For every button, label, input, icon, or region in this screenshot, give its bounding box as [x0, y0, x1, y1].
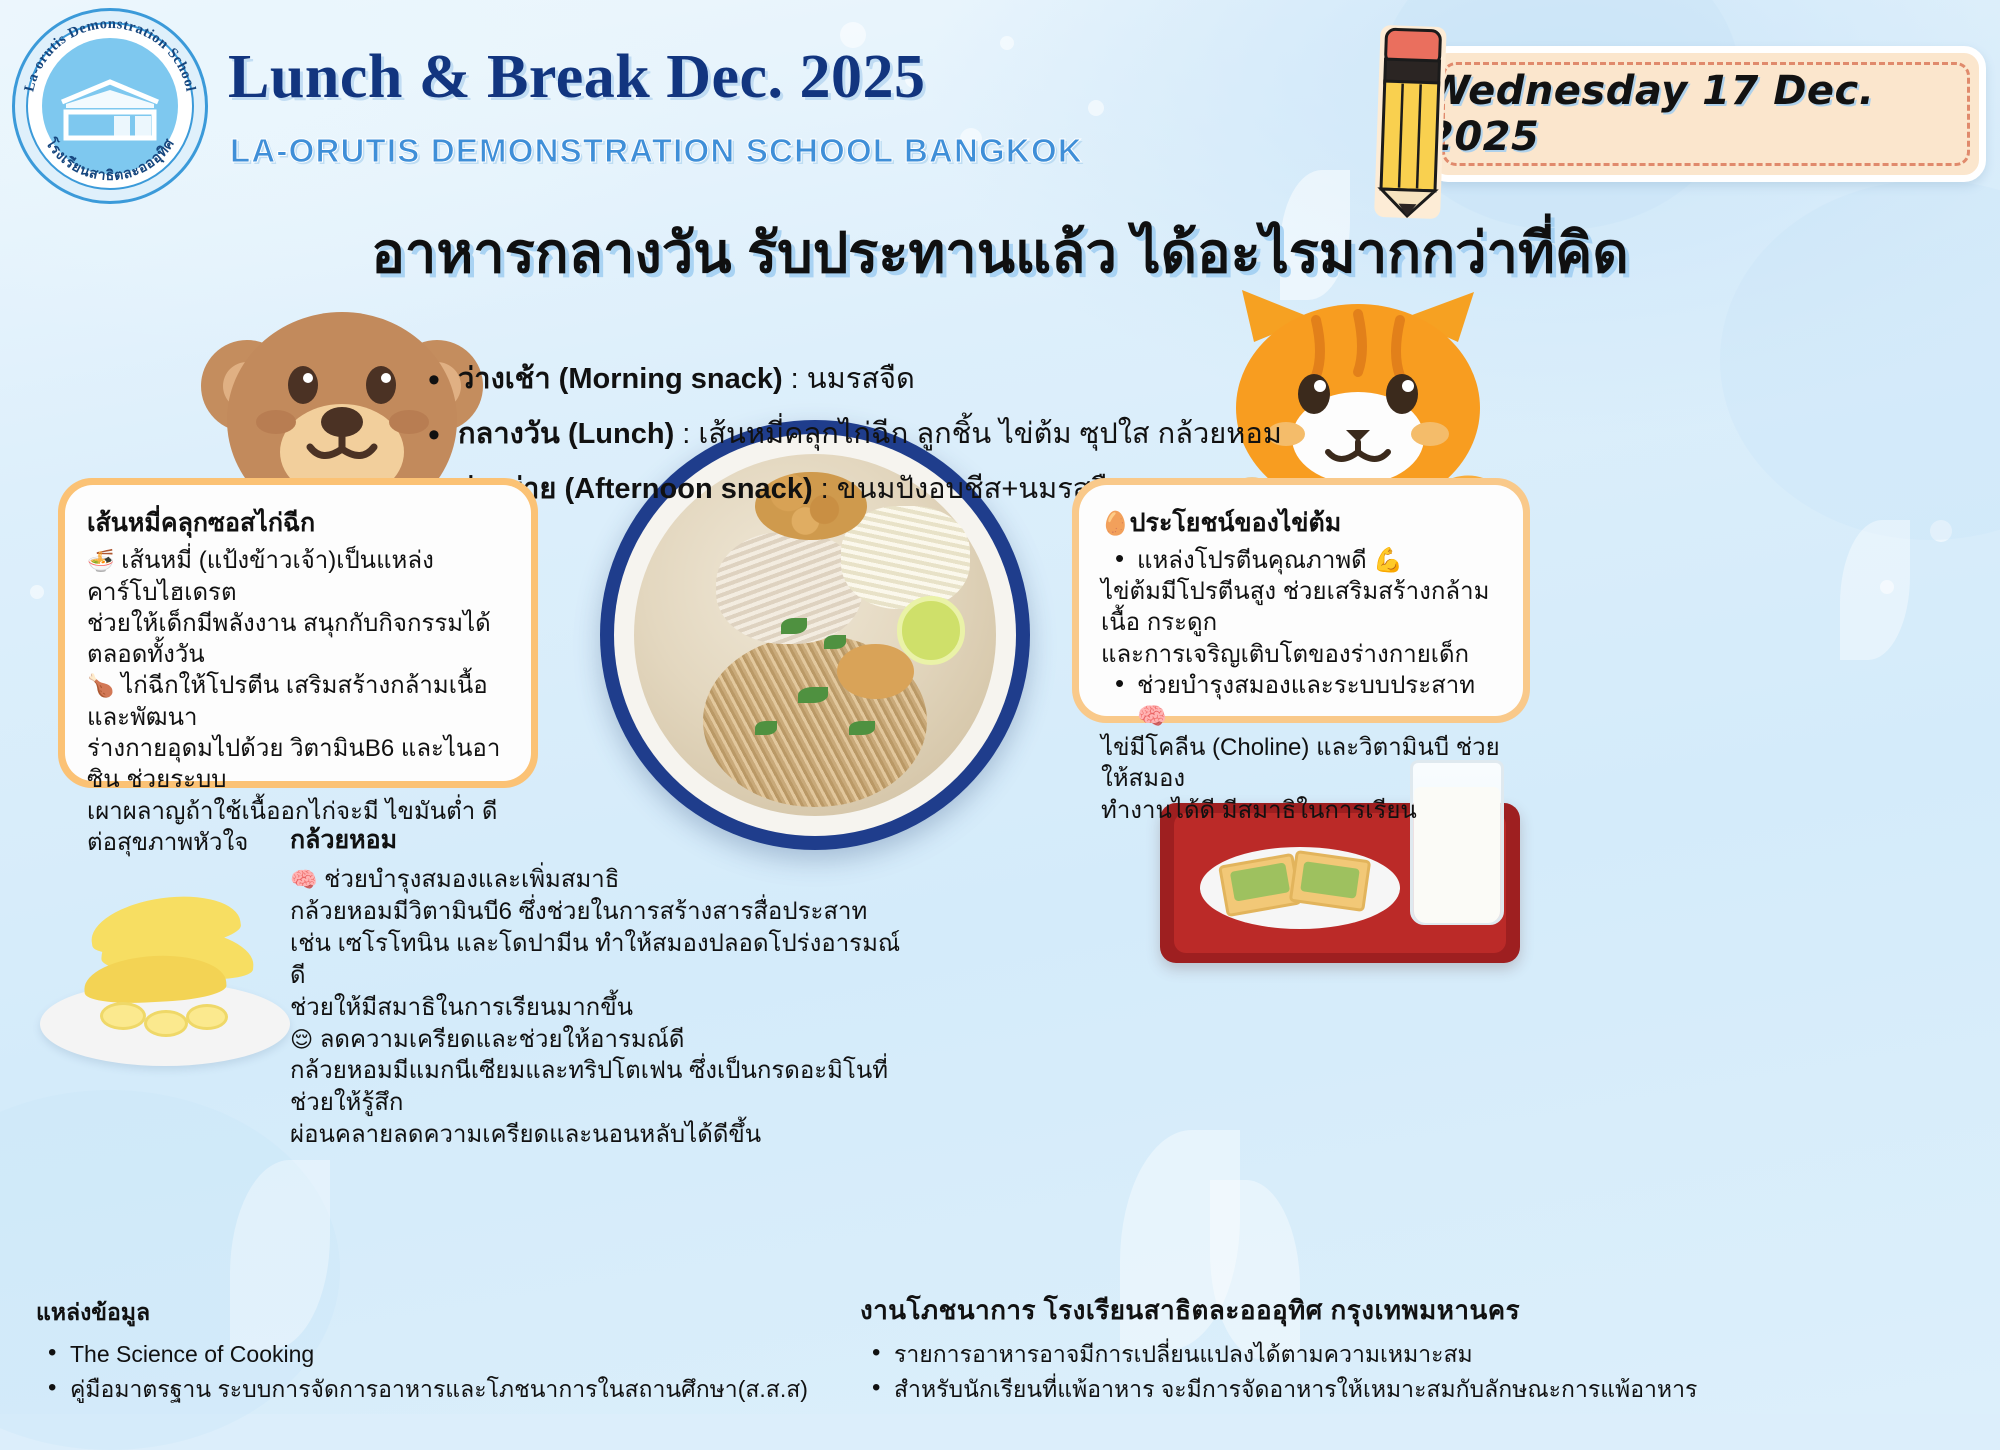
info-card-boiled-egg: 🥚ประโยชน์ของไข่ต้ม แหล่งโปรตีนคุณภาพดี 💪… [1072, 478, 1530, 723]
footer-note-item: สำหรับนักเรียนที่แพ้อาหาร จะมีการจัดอาหา… [860, 1372, 1970, 1407]
card-right-line-4: ทำงานได้ดี มีสมาธิในการเรียน [1101, 797, 1417, 824]
meal-item-morning-snack: ว่างเช้า (Morning snack) : นมรสจืด [420, 360, 1540, 399]
page-title: Lunch & Break Dec. 2025 [228, 42, 926, 113]
footer-source-item: คู่มือมาตรฐาน ระบบการจัดการอาหารและโภชนา… [36, 1372, 896, 1407]
footer-sources: แหล่งข้อมูล The Science of Cooking คู่มื… [36, 1295, 896, 1406]
banana-title: กล้วยหอม [290, 820, 910, 860]
footer-notes-title: งานโภชนาการ โรงเรียนสาธิตละอออุทิศ กรุงเ… [860, 1290, 1970, 1331]
card-right-line-3: ไข่มีโคลีน (Choline) และวิตามินบี ช่วยให… [1101, 734, 1500, 792]
herb-garnish [824, 635, 846, 649]
info-card-noodles: เส้นหมี่คลุกซอสไก่ฉีก 🍜 เส้นหมี่ (แป้งข้… [58, 478, 538, 788]
crushed-peanuts [837, 644, 914, 700]
footer-sources-list: The Science of Cooking คู่มือมาตรฐาน ระบ… [36, 1337, 896, 1406]
card-right-title: 🥚ประโยชน์ของไข่ต้ม [1101, 503, 1501, 543]
card-right-paragraph-1: ไข่ต้มมีโปรตีนสูง ช่วยเสริมสร้างกล้ามเนื… [1101, 576, 1501, 670]
banana-line-5: ลดความเครียดและช่วยให้อารมณ์ดี [313, 1026, 684, 1053]
meal-sep: : [813, 473, 837, 505]
card-right-paragraph-2: ไข่มีโคลีน (Choline) และวิตามินบี ช่วยให… [1101, 732, 1501, 826]
school-name-subtitle: LA-ORUTIS DEMONSTRATION SCHOOL BANGKOK [230, 132, 1083, 170]
logo-text-en: La-orutis Demonstration School [21, 16, 198, 93]
chicken-leg-icon: 🍗 [87, 674, 115, 699]
card-right-bullet-1: แหล่งโปรตีนคุณภาพดี 💪 [1101, 545, 1501, 576]
herb-garnish [798, 687, 828, 703]
banana-slice [100, 1002, 146, 1030]
relieved-face-icon: 😌 [290, 1028, 313, 1053]
card-right-line-2: และการเจริญเติบโตของร่างกายเด็ก [1101, 641, 1469, 668]
card-right-line-1: ไข่ต้มมีโปรตีนสูง ช่วยเสริมสร้างกล้ามเนื… [1101, 578, 1489, 636]
school-logo: La-orutis Demonstration School โรงเรียนส… [12, 8, 208, 204]
card-left-line-1: เส้นหมี่ (แป้งข้าวเจ้า)เป็นแหล่งคาร์โบไฮ… [87, 547, 434, 606]
card-left-paragraph-1: 🍜 เส้นหมี่ (แป้งข้าวเจ้า)เป็นแหล่งคาร์โบ… [87, 545, 509, 858]
card-left-title: เส้นหมี่คลุกซอสไก่ฉีก [87, 503, 509, 543]
card-left-line-3: ไก่ฉีกให้โปรตีน เสริมสร้างกล้ามเนื้อและพ… [87, 672, 488, 731]
footer-notes: งานโภชนาการ โรงเรียนสาธิตละอออุทิศ กรุงเ… [860, 1290, 1970, 1406]
banana-line-4: ช่วยให้มีสมาธิในการเรียนมากขึ้น [290, 994, 633, 1021]
logo-circular-text: La-orutis Demonstration School โรงเรียนส… [12, 8, 208, 204]
banana-paragraph: 🧠 ช่วยบำรุงสมองและเพิ่มสมาธิ กล้วยหอมมีว… [290, 864, 910, 1151]
banana-photo [40, 870, 290, 1070]
main-headline: อาหารกลางวัน รับประทานแล้ว ได้อะไรมากกว่… [0, 208, 2000, 297]
banana-line-6: กล้วยหอมมีแมกนีเซียมและทริปโตเฟน ซึ่งเป็… [290, 1057, 888, 1116]
logo-text-th: โรงเรียนสาธิตละอออุทิศ [42, 134, 177, 183]
banana-line-3: เช่น เซโรโทนิน และโดปามีน ทำให้สมองปลอดโ… [290, 930, 900, 989]
info-banana-section: กล้วยหอม 🧠 ช่วยบำรุงสมองและเพิ่มสมาธิ กล… [290, 820, 910, 1151]
date-badge: Wednesday 17 Dec. 2025 [1426, 46, 1986, 182]
card-left-line-4: ร่างกายอุดมไปด้วย วิตามินB6 และไนอาซิน ช… [87, 735, 500, 793]
meal-label: กลางวัน (Lunch) [458, 418, 674, 450]
noodle-bowl-icon: 🍜 [87, 549, 115, 574]
meal-value: เส้นหมี่คลุกไก่ฉีก ลูกชิ้น ไข่ต้ม ซุปใส … [698, 418, 1281, 450]
card-right-title-text: ประโยชน์ของไข่ต้ม [1130, 509, 1342, 537]
card-right-bullet-2: ช่วยบำรุงสมองและระบบประสาท 🧠 [1101, 670, 1501, 732]
lime-wedge [897, 596, 966, 665]
brain-icon: 🧠 [290, 868, 318, 893]
meal-sep: : [674, 418, 698, 450]
herb-garnish [781, 618, 807, 634]
banana-slice [144, 1010, 188, 1037]
meal-value: นมรสจืด [807, 363, 915, 395]
date-text: Wednesday 17 Dec. 2025 [1426, 46, 1986, 182]
bg-dot [30, 585, 44, 599]
info-card-boiled-egg-inner: 🥚ประโยชน์ของไข่ต้ม แหล่งโปรตีนคุณภาพดี 💪… [1079, 485, 1523, 716]
info-card-noodles-inner: เส้นหมี่คลุกซอสไก่ฉีก 🍜 เส้นหมี่ (แป้งข้… [65, 485, 531, 781]
meal-item-lunch: กลางวัน (Lunch) : เส้นหมี่คลุกไก่ฉีก ลูก… [420, 415, 1540, 454]
banana-line-1: ช่วยบำรุงสมองและเพิ่มสมาธิ [318, 866, 620, 893]
card-right-benefit-list: แหล่งโปรตีนคุณภาพดี 💪 [1101, 545, 1501, 576]
egg-icon: 🥚 [1101, 511, 1130, 537]
card-left-line-2: ช่วยให้เด็กมีพลังงาน สนุกกับกิจกรรมได้ตล… [87, 610, 491, 668]
footer-source-item: The Science of Cooking [36, 1337, 896, 1372]
card-right-benefit-list-2: ช่วยบำรุงสมองและระบบประสาท 🧠 [1101, 670, 1501, 732]
banana-line-7: ผ่อนคลายลดความเครียดและนอนหลับได้ดีขึ้น [290, 1121, 761, 1148]
meal-label: ว่างเช้า (Morning snack) [458, 363, 783, 395]
footer-note-item: รายการอาหารอาจมีการเปลี่ยนแปลงได้ตามความ… [860, 1337, 1970, 1372]
banana-line-2: กล้วยหอมมีวิตามินบี6 ซึ่งช่วยในการสร้างส… [290, 898, 867, 925]
bg-leaf [1840, 520, 1910, 660]
herb-garnish [755, 721, 777, 735]
footer-notes-list: รายการอาหารอาจมีการเปลี่ยนแปลงได้ตามความ… [860, 1337, 1970, 1406]
banana-slice [186, 1004, 228, 1030]
footer-sources-title: แหล่งข้อมูล [36, 1295, 896, 1331]
meal-sep: : [783, 363, 807, 395]
page-header: La-orutis Demonstration School โรงเรียนส… [0, 0, 2000, 200]
